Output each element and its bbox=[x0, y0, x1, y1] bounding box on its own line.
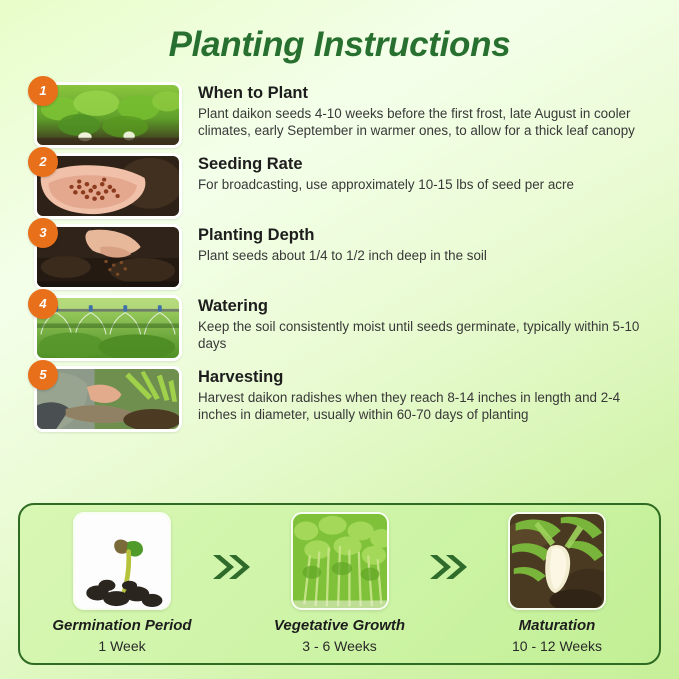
stage-name: Vegetative Growth bbox=[260, 617, 420, 636]
step-title: Seeding Rate bbox=[198, 154, 661, 174]
step-title: When to Plant bbox=[198, 83, 661, 103]
step-body: When to Plant Plant daikon seeds 4-10 we… bbox=[198, 82, 661, 140]
double-chevron-right-icon bbox=[425, 552, 471, 582]
step-description: Plant daikon seeds 4-10 weeks before the… bbox=[198, 105, 661, 140]
step-body: Harvesting Harvest daikon radishes when … bbox=[198, 366, 661, 424]
step-media: 5 bbox=[34, 366, 182, 432]
step-media: 1 bbox=[34, 82, 182, 148]
stage-duration: 3 - 6 Weeks bbox=[260, 637, 420, 656]
step-item: 3 Planting Depth Plan bbox=[34, 224, 661, 290]
double-chevron-right-icon bbox=[208, 552, 254, 582]
step-number-badge: 4 bbox=[28, 289, 58, 319]
step-title: Planting Depth bbox=[198, 225, 661, 245]
step-title: Watering bbox=[198, 296, 661, 316]
step-media: 3 bbox=[34, 224, 182, 290]
timeline-stage: Vegetative Growth 3 - 6 Weeks bbox=[260, 512, 420, 656]
step-description: Keep the soil consistently moist until s… bbox=[198, 318, 661, 353]
step-title: Harvesting bbox=[198, 367, 661, 387]
timeline-stage: Germination Period 1 Week bbox=[42, 512, 202, 656]
step-number-badge: 3 bbox=[28, 218, 58, 248]
step-body: Planting Depth Plant seeds about 1/4 to … bbox=[198, 224, 661, 265]
stage-name: Maturation bbox=[477, 617, 637, 636]
step-item: 1 bbox=[34, 82, 661, 148]
mature-daikon-radish-in-ground-photo bbox=[508, 512, 606, 610]
dense-green-leaves-photo bbox=[291, 512, 389, 610]
step-item: 2 bbox=[34, 153, 661, 219]
stage-name: Germination Period bbox=[42, 617, 202, 636]
step-description: For broadcasting, use approximately 10-1… bbox=[198, 176, 661, 193]
step-media: 4 bbox=[34, 295, 182, 361]
step-item: 4 bbox=[34, 295, 661, 361]
step-body: Watering Keep the soil consistently mois… bbox=[198, 295, 661, 353]
sprouting-seedling-photo bbox=[73, 512, 171, 610]
step-number-badge: 1 bbox=[28, 76, 58, 106]
page-title: Planting Instructions bbox=[0, 0, 679, 65]
step-body: Seeding Rate For broadcasting, use appro… bbox=[198, 153, 661, 194]
stage-duration: 10 - 12 Weeks bbox=[477, 637, 637, 656]
step-number-badge: 5 bbox=[28, 360, 58, 390]
growth-timeline-panel: Germination Period 1 Week bbox=[18, 503, 661, 665]
step-number-badge: 2 bbox=[28, 147, 58, 177]
planting-steps-list: 1 bbox=[0, 82, 679, 432]
step-description: Harvest daikon radishes when they reach … bbox=[198, 389, 661, 424]
step-media: 2 bbox=[34, 153, 182, 219]
timeline-stage: Maturation 10 - 12 Weeks bbox=[477, 512, 637, 656]
step-description: Plant seeds about 1/4 to 1/2 inch deep i… bbox=[198, 247, 661, 264]
stage-duration: 1 Week bbox=[42, 637, 202, 656]
step-item: 5 bbox=[34, 366, 661, 432]
